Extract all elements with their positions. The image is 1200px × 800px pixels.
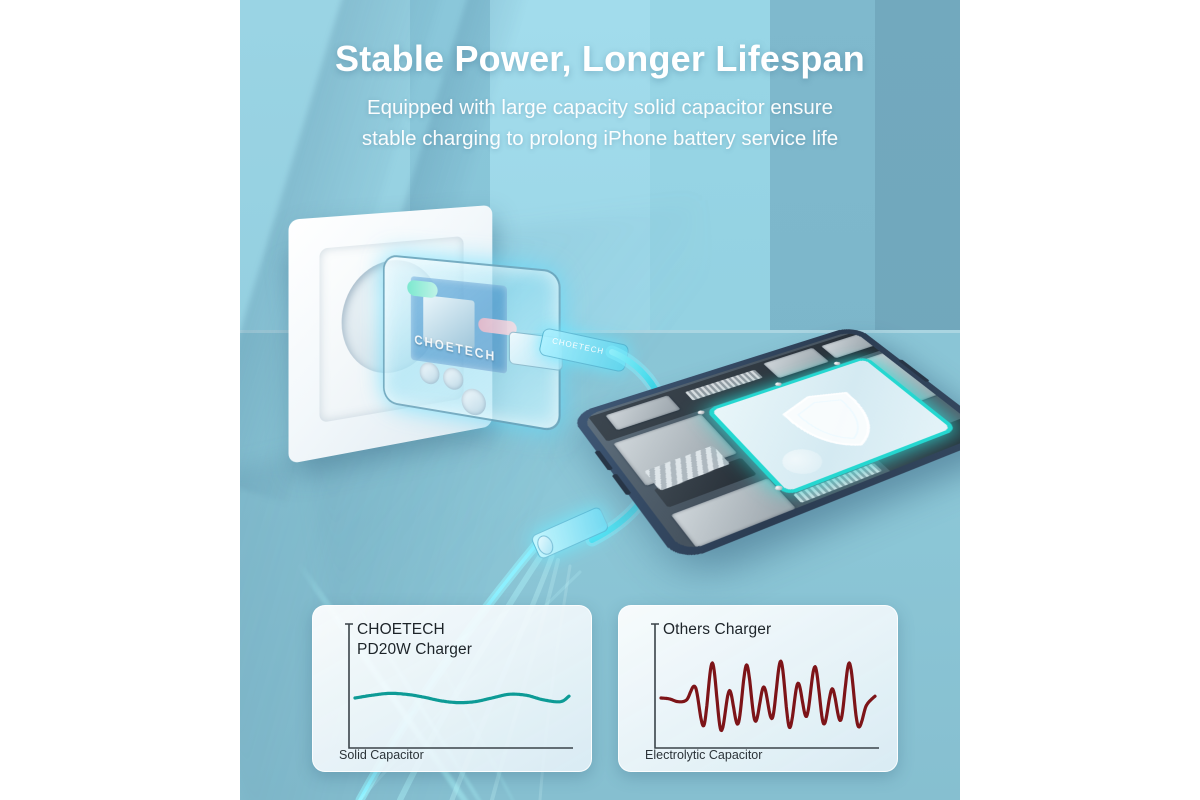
screw xyxy=(774,485,784,492)
subtitle-line2: stable charging to prolong iPhone batter… xyxy=(362,127,838,150)
unstable-waveform xyxy=(619,606,897,771)
scene-photo: CHOETECH CHOETECH xyxy=(240,0,960,800)
shield-icon xyxy=(768,382,901,461)
stable-waveform xyxy=(313,606,591,771)
panel-footer-label: Solid Capacitor xyxy=(339,748,424,762)
antenna-module xyxy=(654,458,757,508)
subtitle-line1: Equipped with large capacity solid capac… xyxy=(367,96,833,119)
battery-marking xyxy=(775,445,830,479)
plug-collar xyxy=(534,533,556,557)
comparison-panel-others: Others Charger Electrolytic Capacitor xyxy=(618,605,898,772)
comparison-panel-choetech: CHOETECH PD20W Charger Solid Capacitor xyxy=(312,605,592,772)
panel-footer-label: Electrolytic Capacitor xyxy=(645,748,762,762)
page-title: Stable Power, Longer Lifespan xyxy=(240,38,960,80)
page-subtitle: Equipped with large capacity solid capac… xyxy=(240,92,960,154)
sim-tray xyxy=(644,445,730,490)
product-marketing-image: CHOETECH CHOETECH xyxy=(0,0,1200,800)
